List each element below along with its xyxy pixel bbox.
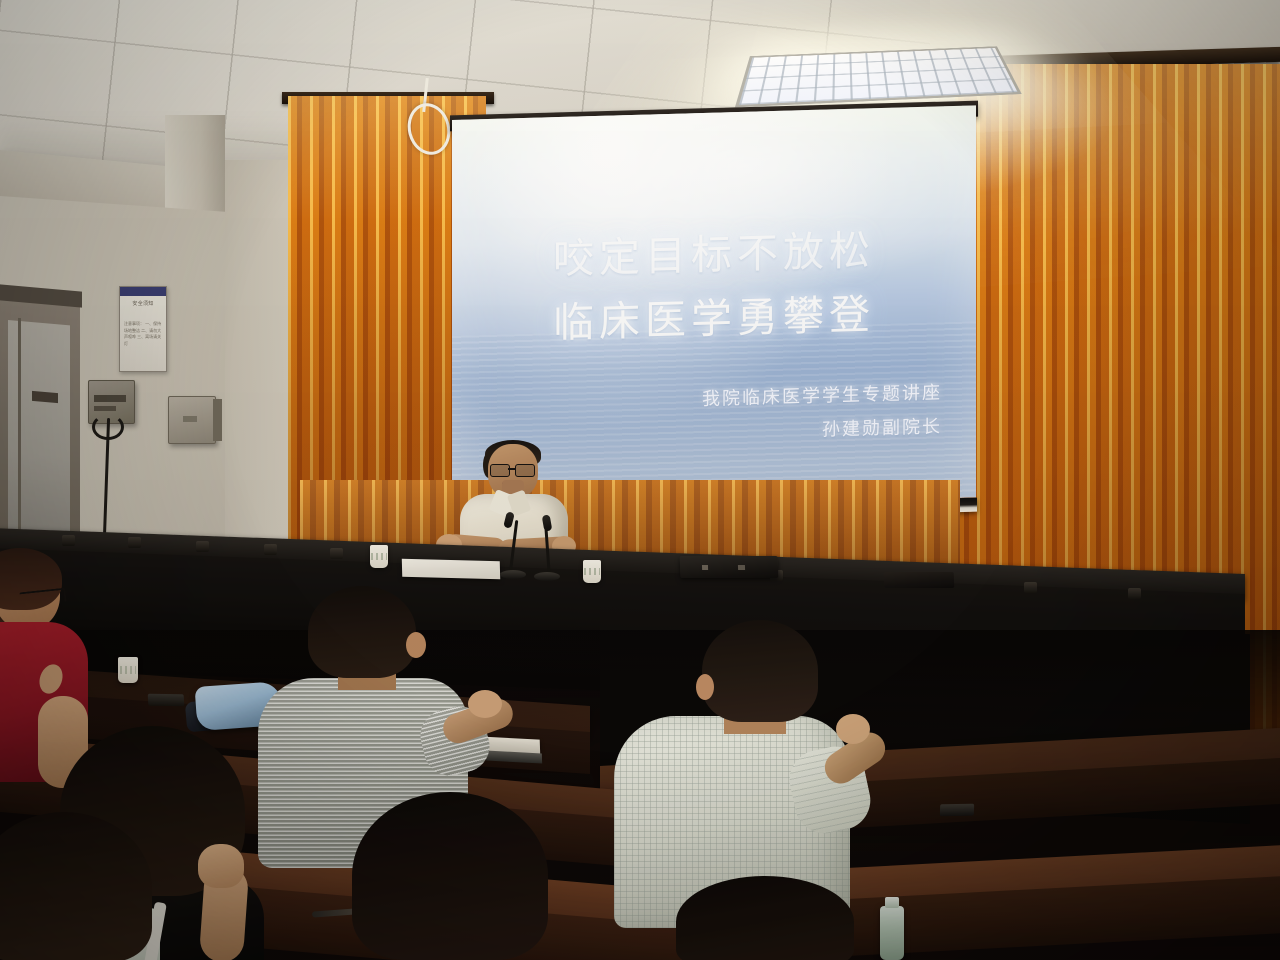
junction-box-chip xyxy=(183,416,197,422)
hair-top xyxy=(0,812,152,960)
glasses-icon xyxy=(490,464,536,475)
audience-student-foreground-center xyxy=(352,792,552,960)
wall-notice-sign: 安全须知 注意事项： 一、保持场地整洁 二、请勿大声喧哗 三、离场请关灯 xyxy=(119,286,167,372)
hair-top xyxy=(308,586,416,678)
hair-top xyxy=(702,620,818,722)
bottle-cap xyxy=(885,897,899,908)
table-skirt-clip xyxy=(330,548,343,559)
bottle-icon xyxy=(880,906,904,960)
presenter-documents xyxy=(402,559,500,580)
glasses-lens-right xyxy=(515,464,535,477)
junction-box-door xyxy=(213,399,222,441)
hair-top xyxy=(676,876,854,960)
junction-box-icon xyxy=(168,396,216,444)
electrical-box-slot xyxy=(94,395,126,402)
cup-icon xyxy=(583,560,601,583)
audience-man-white-shirt xyxy=(596,620,896,920)
cup-icon xyxy=(118,657,138,683)
av-equipment xyxy=(680,556,779,578)
glasses-lens-left xyxy=(490,464,510,477)
phone-on-desk-right xyxy=(940,804,974,817)
door-mullion xyxy=(18,318,21,546)
microphone-base xyxy=(534,572,560,581)
wall-sign-body: 注意事项： 一、保持场地整洁 二、请勿大声喧哗 三、离场请关灯 xyxy=(124,321,162,347)
wall-sign-title: 安全须知 xyxy=(120,301,166,307)
electrical-box-slot-secondary xyxy=(94,406,116,411)
table-skirt-clip xyxy=(1024,582,1037,593)
hand xyxy=(836,714,870,744)
av-equipment-panel xyxy=(702,565,708,570)
table-skirt-clip xyxy=(128,537,141,548)
hair-top xyxy=(352,792,548,960)
slide-subtitle-line-2: 孙建勋副院长 xyxy=(822,412,942,441)
hand xyxy=(198,844,244,888)
glasses-bridge xyxy=(508,468,516,470)
door-label-plate xyxy=(32,391,58,403)
ear xyxy=(406,632,426,658)
av-equipment-secondary xyxy=(884,572,955,588)
wall-sign-header-band xyxy=(120,287,166,296)
table-skirt-clip xyxy=(264,544,277,555)
av-equipment-panel-secondary xyxy=(738,565,745,570)
table-skirt-clip xyxy=(1128,588,1141,599)
cup-icon xyxy=(370,545,388,568)
hand xyxy=(468,690,502,718)
table-skirt-clip xyxy=(62,535,75,546)
microphone-base xyxy=(500,570,526,579)
table-skirt-clip xyxy=(196,541,209,552)
audience-student-foreground-left xyxy=(0,812,156,960)
audience-student-foreground-right xyxy=(676,876,856,960)
ear xyxy=(696,674,714,700)
phone-on-desk xyxy=(148,694,185,707)
lecture-hall-photo: 安全须知 注意事项： 一、保持场地整洁 二、请勿大声喧哗 三、离场请关灯 咬定目… xyxy=(0,0,1280,960)
